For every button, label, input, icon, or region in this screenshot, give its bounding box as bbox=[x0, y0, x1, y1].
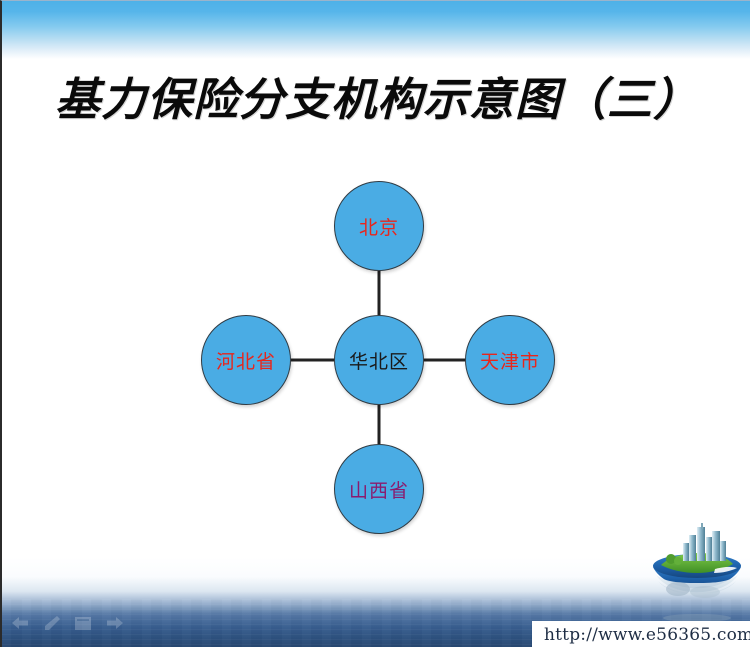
node-beijing[interactable]: 北京 bbox=[334, 181, 424, 271]
node-beijing-label: 北京 bbox=[359, 213, 399, 240]
node-tianjin[interactable]: 天津市 bbox=[465, 315, 555, 405]
org-chart-diagram: 北京 河北省 华北区 天津市 山西省 bbox=[2, 1, 750, 647]
website-url-text[interactable]: http://www.e56365.com bbox=[532, 625, 750, 645]
previous-slide-icon[interactable] bbox=[10, 616, 30, 630]
node-huabei-region-label: 华北区 bbox=[349, 347, 409, 374]
next-slide-icon[interactable] bbox=[105, 616, 125, 630]
website-url-bar: http://www.e56365.com bbox=[532, 621, 750, 647]
node-huabei-region[interactable]: 华北区 bbox=[334, 315, 424, 405]
slide-menu-icon[interactable] bbox=[74, 616, 92, 631]
node-hebei-label: 河北省 bbox=[216, 347, 276, 374]
presentation-slide: 基力保险分支机构示意图（三） 北京 河北省 华北区 天津市 山西省 bbox=[0, 0, 750, 647]
node-hebei[interactable]: 河北省 bbox=[201, 315, 291, 405]
node-shanxi[interactable]: 山西省 bbox=[334, 444, 424, 534]
node-shanxi-label: 山西省 bbox=[349, 476, 409, 503]
pen-tool-icon[interactable] bbox=[43, 615, 61, 631]
node-tianjin-label: 天津市 bbox=[480, 347, 540, 374]
earth-globe-city-logo bbox=[645, 523, 749, 623]
slideshow-nav-controls[interactable] bbox=[10, 615, 125, 631]
